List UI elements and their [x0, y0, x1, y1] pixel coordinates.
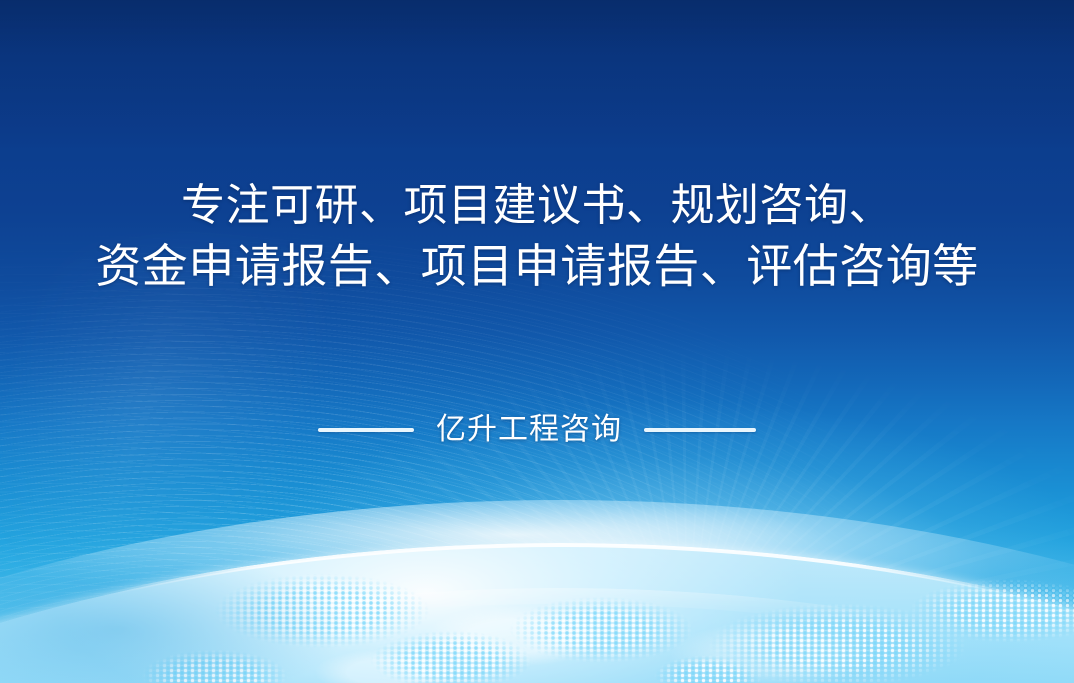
promotional-banner: 专注可研、项目建议书、规划咨询、 资金申请报告、项目申请报告、评估咨询等 亿升工… [0, 0, 1074, 683]
decorative-rule-left-icon [318, 428, 414, 432]
subtitle-row: 亿升工程咨询 [0, 410, 1074, 450]
banner-content: 专注可研、项目建议书、规划咨询、 资金申请报告、项目申请报告、评估咨询等 亿升工… [0, 0, 1074, 683]
headline: 专注可研、项目建议书、规划咨询、 资金申请报告、项目申请报告、评估咨询等 [0, 176, 1074, 296]
company-name: 亿升工程咨询 [436, 410, 622, 450]
decorative-rule-right-icon [644, 428, 756, 432]
headline-line-1: 专注可研、项目建议书、规划咨询、 [0, 176, 1074, 236]
headline-line-2: 资金申请报告、项目申请报告、评估咨询等 [0, 236, 1074, 296]
